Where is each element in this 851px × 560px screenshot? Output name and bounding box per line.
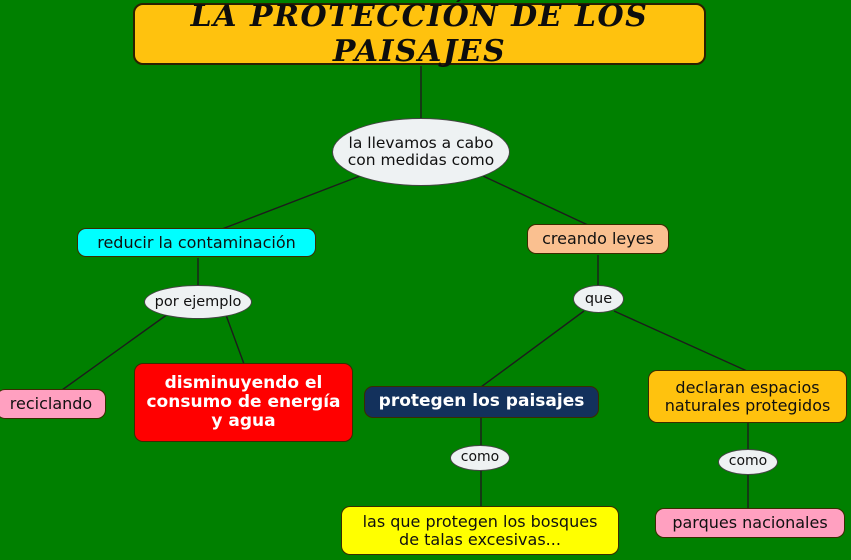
text-line-1: las que protegen los bosques xyxy=(363,512,598,531)
text-line-2: naturales protegidos xyxy=(665,396,831,415)
concept-parques-nacionales[interactable]: parques nacionales xyxy=(655,508,845,538)
concept-protegen-los-paisajes[interactable]: protegen los paisajes xyxy=(364,386,599,418)
edge-que-to-declaran xyxy=(614,311,747,371)
concept-map-canvas: LA PROTECCIÓN DE LOS PAISAJES la llevamo… xyxy=(0,0,851,560)
edge-que-to-protegen xyxy=(481,311,584,387)
link-node-como-2: como xyxy=(718,449,778,475)
concept-creando-leyes[interactable]: creando leyes xyxy=(527,224,669,254)
concept-leyes-bosques-talas[interactable]: las que protegen los bosques de talas ex… xyxy=(341,506,619,555)
concept-text: las que protegen los bosques de talas ex… xyxy=(363,513,598,549)
text-line-2: de talas excesivas... xyxy=(399,530,561,549)
concept-declaran-espacios-naturales[interactable]: declaran espacios naturales protegidos xyxy=(648,370,847,423)
text-line-1: la llevamos a cabo xyxy=(349,134,494,152)
concept-reciclando[interactable]: reciclando xyxy=(0,389,106,419)
edge-layer xyxy=(0,0,851,560)
text-line-1: declaran espacios xyxy=(675,378,819,397)
link-node-por-ejemplo: por ejemplo xyxy=(144,285,252,319)
edge-porejemplo-to-disminuyendo xyxy=(226,315,244,364)
concept-reducir-la-contaminacion[interactable]: reducir la contaminación xyxy=(77,228,316,257)
text-line-3: y agua xyxy=(211,411,275,431)
edge-root-to-leyes xyxy=(483,176,590,226)
link-node-que: que xyxy=(573,285,624,313)
concept-text: disminuyendo el consumo de energía y agu… xyxy=(146,374,340,431)
concept-text: declaran espacios naturales protegidos xyxy=(665,379,831,415)
link-node-como-1: como xyxy=(450,445,510,471)
text-line-1: disminuyendo el xyxy=(165,373,323,393)
link-node-la-llevamos-a-cabo: la llevamos a cabo con medidas como xyxy=(332,118,510,186)
link-node-text: la llevamos a cabo con medidas como xyxy=(348,135,494,170)
edge-root-to-reducir xyxy=(222,176,360,229)
concept-disminuyendo-consumo[interactable]: disminuyendo el consumo de energía y agu… xyxy=(134,363,353,442)
text-line-2: consumo de energía xyxy=(146,392,340,412)
map-title: LA PROTECCIÓN DE LOS PAISAJES xyxy=(133,3,706,65)
text-line-2: con medidas como xyxy=(348,151,494,169)
